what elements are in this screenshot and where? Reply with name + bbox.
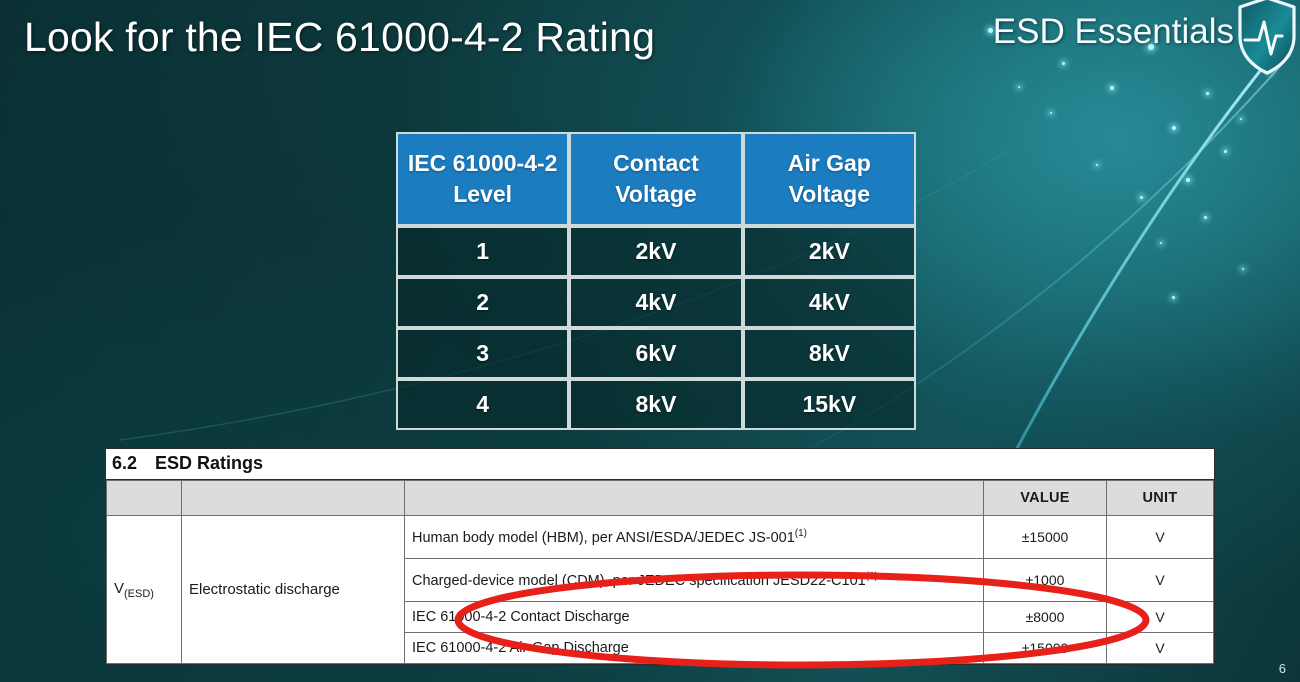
cell-contact-voltage: 2kV	[569, 226, 742, 277]
cell-air-gap-voltage: 15kV	[743, 379, 916, 430]
table-header-row: VALUE UNIT	[107, 481, 1214, 516]
column-header-symbol	[107, 481, 182, 516]
esd-ratings-table: VALUE UNIT V(ESD) Electrostatic discharg…	[106, 480, 1214, 664]
cell-air-gap-voltage: 4kV	[743, 277, 916, 328]
datasheet-section-heading: 6.2ESD Ratings	[106, 449, 1214, 480]
table-row: 4 8kV 15kV	[396, 379, 916, 430]
cell-value: ±15000	[984, 516, 1107, 559]
column-header-air-gap-voltage: Air Gap Voltage	[743, 132, 916, 226]
symbol-subscript: (ESD)	[124, 588, 154, 600]
cell-unit: V	[1107, 516, 1214, 559]
cell-level: 2	[396, 277, 569, 328]
column-header-level: IEC 61000-4-2 Level	[396, 132, 569, 226]
cell-unit: V	[1107, 633, 1214, 664]
column-header-level-line2: Level	[453, 181, 512, 207]
cell-parameter: Electrostatic discharge	[182, 516, 405, 664]
particle	[1240, 118, 1242, 120]
brand-label: ESD Essentials	[993, 12, 1234, 52]
particle	[1206, 92, 1209, 95]
particle	[1018, 86, 1020, 88]
column-header-unit: UNIT	[1107, 481, 1214, 516]
cell-value: ±15000	[984, 633, 1107, 664]
cell-air-gap-voltage: 2kV	[743, 226, 916, 277]
cell-level: 1	[396, 226, 569, 277]
column-header-contact-line1: Contact	[613, 150, 699, 176]
particle	[1224, 150, 1227, 153]
column-header-parameter	[182, 481, 405, 516]
cell-description: Charged-device model (CDM), per JEDEC sp…	[405, 559, 984, 602]
description-text: Human body model (HBM), per ANSI/ESDA/JE…	[412, 530, 795, 546]
particle	[1160, 242, 1162, 244]
cell-value: ±8000	[984, 602, 1107, 633]
datasheet-clipping: 6.2ESD Ratings VALUE UNIT V(ESD) Electro…	[105, 448, 1215, 665]
particle	[1050, 112, 1052, 114]
cell-unit: V	[1107, 602, 1214, 633]
column-header-contact-line2: Voltage	[615, 181, 696, 207]
particle	[1186, 178, 1190, 182]
column-header-description	[405, 481, 984, 516]
section-number: 6.2	[112, 453, 137, 473]
particle	[1172, 296, 1175, 299]
footnote-marker: (2)	[866, 571, 878, 582]
cell-air-gap-voltage: 8kV	[743, 328, 916, 379]
cell-symbol: V(ESD)	[107, 516, 182, 664]
shield-pulse-icon	[1236, 0, 1298, 76]
particle	[1242, 268, 1244, 270]
particle	[1062, 62, 1065, 65]
slide: Look for the IEC 61000-4-2 Rating ESD Es…	[0, 0, 1300, 682]
section-title: ESD Ratings	[155, 453, 263, 473]
cell-contact-voltage: 6kV	[569, 328, 742, 379]
cell-description: Human body model (HBM), per ANSI/ESDA/JE…	[405, 516, 984, 559]
cell-level: 3	[396, 328, 569, 379]
cell-level: 4	[396, 379, 569, 430]
particle	[1204, 216, 1207, 219]
table-row: 3 6kV 8kV	[396, 328, 916, 379]
particle	[1140, 196, 1143, 199]
description-text: Charged-device model (CDM), per JEDEC sp…	[412, 573, 866, 589]
column-header-airgap-line1: Air Gap	[788, 150, 871, 176]
cell-description: IEC 61000-4-2 Air-Gap Discharge	[405, 633, 984, 664]
table-row: 2 4kV 4kV	[396, 277, 916, 328]
particle	[1172, 126, 1176, 130]
column-header-airgap-line2: Voltage	[789, 181, 870, 207]
column-header-contact-voltage: Contact Voltage	[569, 132, 742, 226]
column-header-value: VALUE	[984, 481, 1107, 516]
cell-unit: V	[1107, 559, 1214, 602]
table-row: 1 2kV 2kV	[396, 226, 916, 277]
particle	[1096, 164, 1098, 166]
particle	[1110, 86, 1114, 90]
page-title: Look for the IEC 61000-4-2 Rating	[24, 14, 655, 61]
page-number: 6	[1279, 661, 1286, 676]
cell-contact-voltage: 8kV	[569, 379, 742, 430]
cell-value: ±1000	[984, 559, 1107, 602]
table-row: V(ESD) Electrostatic discharge Human bod…	[107, 516, 1214, 559]
symbol-base: V	[114, 580, 124, 597]
footnote-marker: (1)	[795, 528, 807, 539]
cell-contact-voltage: 4kV	[569, 277, 742, 328]
cell-description: IEC 61000-4-2 Contact Discharge	[405, 602, 984, 633]
table-header-row: IEC 61000-4-2 Level Contact Voltage Air …	[396, 132, 916, 226]
iec-level-table: IEC 61000-4-2 Level Contact Voltage Air …	[396, 132, 916, 430]
column-header-level-line1: IEC 61000-4-2	[408, 150, 558, 176]
